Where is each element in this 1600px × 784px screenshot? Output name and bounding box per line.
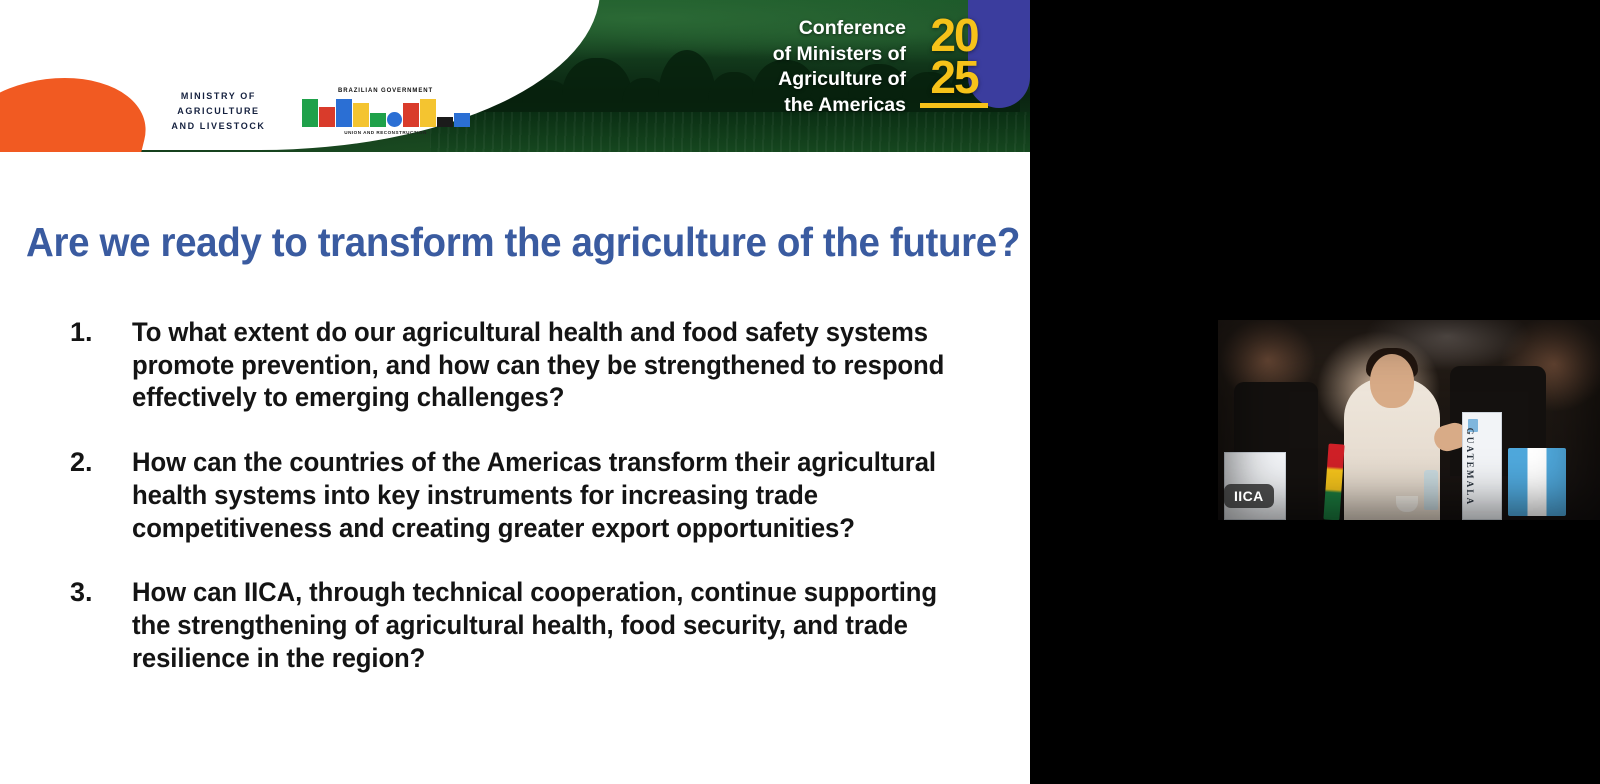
page-title: Are we ready to transform the agricultur… bbox=[26, 219, 1020, 266]
brasil-wordmark-blocks bbox=[302, 97, 470, 127]
brasil-bottom-label: UNION AND RECONSTRUCTION bbox=[302, 130, 470, 135]
question-number: 3. bbox=[70, 576, 132, 674]
list-item: 3. How can IICA, through technical coope… bbox=[70, 576, 1000, 674]
question-text: How can IICA, through technical cooperat… bbox=[132, 576, 974, 674]
water-bottle bbox=[1424, 470, 1438, 510]
nameplate-label: GUATEMALA bbox=[1450, 413, 1490, 520]
year-bottom: 25 bbox=[920, 56, 988, 98]
year-underline bbox=[920, 103, 988, 108]
nameplate-guatemala: GUATEMALA bbox=[1462, 412, 1502, 520]
conference-line-1: Conference bbox=[773, 16, 906, 42]
screen-root: IICA MINISTRY OF AGRICULTURE AND LIVESTO… bbox=[0, 0, 1600, 784]
ministry-logo: MINISTRY OF AGRICULTURE AND LIVESTOCK bbox=[171, 89, 265, 134]
ministry-line-3: AND LIVESTOCK bbox=[171, 119, 265, 134]
conference-year: 20 25 bbox=[920, 14, 988, 108]
conference-line-2: of Ministers of bbox=[773, 42, 906, 68]
question-list: 1. To what extent do our agricultural he… bbox=[70, 316, 1000, 706]
question-number: 2. bbox=[70, 446, 132, 544]
participant-name-badge: IICA bbox=[1224, 484, 1274, 508]
participant-video-tile[interactable]: GUATEMALA IICA bbox=[1218, 320, 1600, 520]
presentation-slide: IICA MINISTRY OF AGRICULTURE AND LIVESTO… bbox=[0, 0, 1030, 784]
ministry-line-1: MINISTRY OF bbox=[171, 89, 265, 104]
brasil-government-logo: BRAZILIAN GOVERNMENT UNION AND RECONST bbox=[302, 88, 470, 135]
conference-line-3: Agriculture of bbox=[773, 67, 906, 93]
guatemala-flag bbox=[1508, 448, 1566, 516]
list-item: 1. To what extent do our agricultural he… bbox=[70, 316, 1000, 414]
conference-line-4: the Americas bbox=[773, 93, 906, 119]
question-text: How can the countries of the Americas tr… bbox=[132, 446, 974, 544]
brasil-top-label: BRAZILIAN GOVERNMENT bbox=[302, 88, 470, 94]
year-top: 20 bbox=[920, 14, 988, 56]
speaker-head bbox=[1370, 354, 1414, 408]
banner-field-decoration bbox=[430, 112, 1030, 152]
list-item: 2. How can the countries of the Americas… bbox=[70, 446, 1000, 544]
question-text: To what extent do our agricultural healt… bbox=[132, 316, 974, 414]
question-number: 1. bbox=[70, 316, 132, 414]
slide-banner: IICA MINISTRY OF AGRICULTURE AND LIVESTO… bbox=[0, 0, 1030, 152]
ministry-line-2: AGRICULTURE bbox=[171, 104, 265, 119]
conference-title: Conference of Ministers of Agriculture o… bbox=[773, 16, 906, 119]
